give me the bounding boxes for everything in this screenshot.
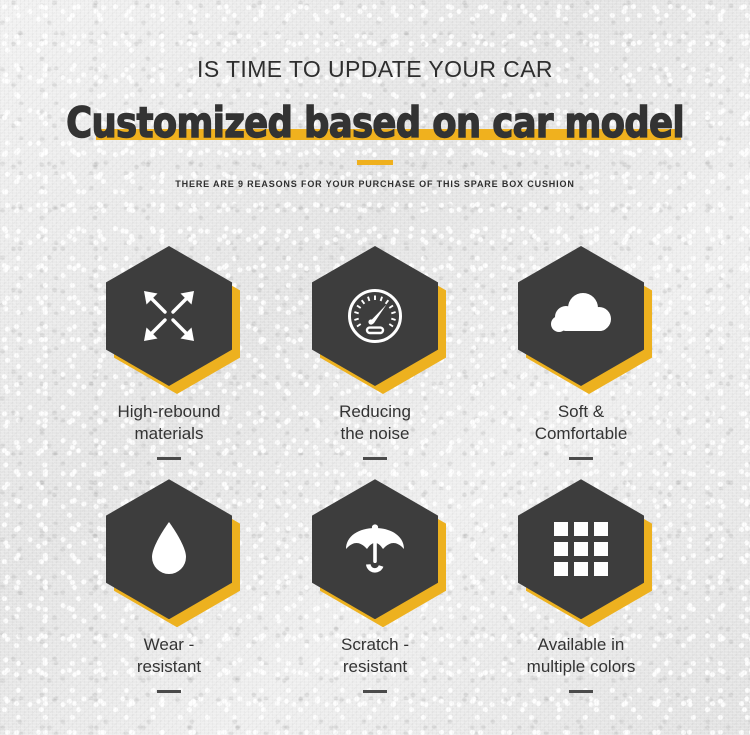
feature-caption: Reducing the noise bbox=[339, 401, 411, 445]
feature-caption: Wear - resistant bbox=[137, 634, 201, 678]
caption-divider bbox=[157, 690, 181, 693]
eyebrow-text: IS TIME TO UPDATE YOUR CAR bbox=[0, 58, 750, 81]
hexagon-badge bbox=[312, 479, 438, 619]
hexagon-badge bbox=[518, 246, 644, 386]
title-divider bbox=[357, 160, 393, 165]
caption-line-2: Comfortable bbox=[535, 423, 628, 445]
caption-line-2: materials bbox=[117, 423, 220, 445]
hexagon-badge bbox=[106, 246, 232, 386]
caption-line-2: the noise bbox=[339, 423, 411, 445]
caption-line-1: Soft & bbox=[535, 401, 628, 423]
title-wrapper: Customized based on car model bbox=[39, 102, 711, 144]
caption-divider bbox=[569, 690, 593, 693]
caption-line-2: multiple colors bbox=[527, 656, 636, 678]
feature-card-wear-resistant: Wear - resistant bbox=[66, 479, 272, 693]
hexagon-badge bbox=[518, 479, 644, 619]
grid-squares-icon bbox=[552, 520, 610, 578]
feature-grid: High-rebound materials bbox=[0, 246, 750, 693]
caption-line-1: Scratch - bbox=[341, 634, 409, 656]
speedometer-icon bbox=[344, 285, 406, 347]
expand-arrows-icon bbox=[138, 285, 200, 347]
feature-card-reducing-the-noise: Reducing the noise bbox=[272, 246, 478, 460]
water-drop-icon bbox=[147, 518, 191, 580]
caption-line-2: resistant bbox=[341, 656, 409, 678]
caption-line-1: High-rebound bbox=[117, 401, 220, 423]
feature-card-available-in-multiple-colors: Available in multiple colors bbox=[478, 479, 684, 693]
hexagon-badge bbox=[106, 479, 232, 619]
feature-caption: Scratch - resistant bbox=[341, 634, 409, 678]
promo-banner: IS TIME TO UPDATE YOUR CAR Customized ba… bbox=[0, 0, 750, 735]
subtitle-text: THERE ARE 9 REASONS FOR YOUR PURCHASE OF… bbox=[0, 180, 750, 189]
hexagon-badge bbox=[312, 246, 438, 386]
feature-card-scratch-resistant: Scratch - resistant bbox=[272, 479, 478, 693]
feature-card-high-rebound-materials: High-rebound materials bbox=[66, 246, 272, 460]
feature-caption: High-rebound materials bbox=[117, 401, 220, 445]
page-title: Customized based on car model bbox=[66, 102, 684, 144]
umbrella-icon bbox=[342, 518, 408, 580]
banner-header: IS TIME TO UPDATE YOUR CAR Customized ba… bbox=[0, 0, 750, 189]
cloud-icon bbox=[547, 288, 615, 344]
feature-caption: Soft & Comfortable bbox=[535, 401, 628, 445]
caption-line-2: resistant bbox=[137, 656, 201, 678]
feature-card-soft-comfortable: Soft & Comfortable bbox=[478, 246, 684, 460]
caption-line-1: Wear - bbox=[137, 634, 201, 656]
caption-divider bbox=[157, 457, 181, 460]
caption-divider bbox=[569, 457, 593, 460]
caption-line-1: Available in bbox=[527, 634, 636, 656]
caption-line-1: Reducing bbox=[339, 401, 411, 423]
caption-divider bbox=[363, 690, 387, 693]
feature-caption: Available in multiple colors bbox=[527, 634, 636, 678]
caption-divider bbox=[363, 457, 387, 460]
